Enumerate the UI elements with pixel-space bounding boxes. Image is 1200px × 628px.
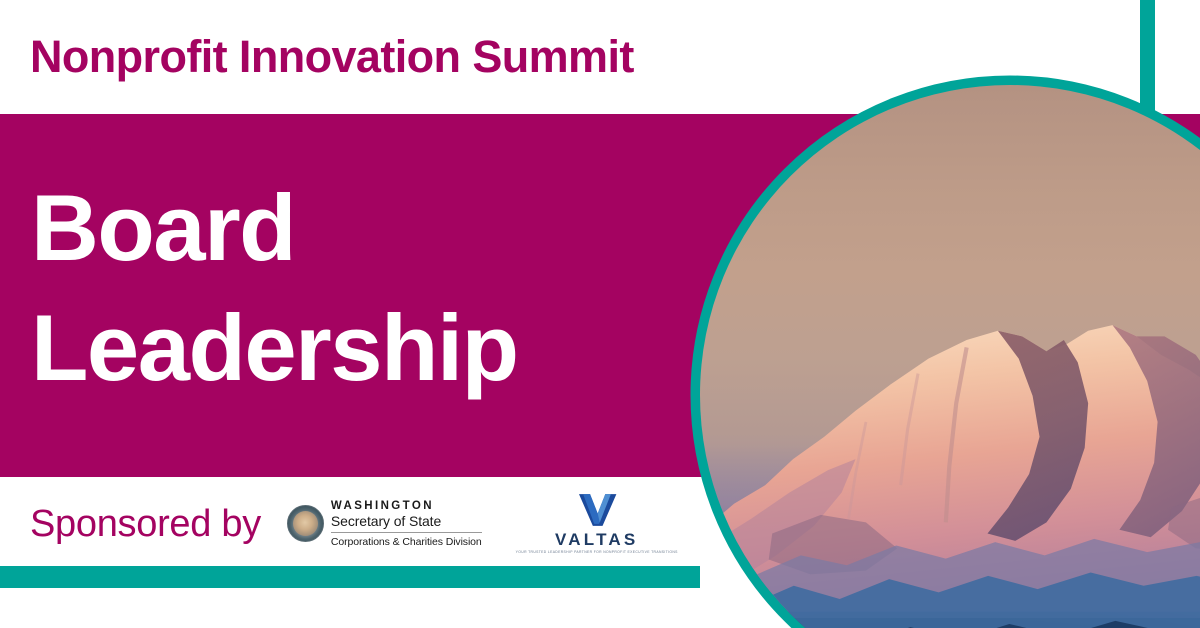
- sponsor-row: Sponsored by WASHINGTON Secretary of Sta…: [30, 488, 678, 560]
- sponsored-by-label: Sponsored by: [30, 503, 261, 546]
- promo-banner: Nonprofit Innovation Summit Board Leader…: [0, 0, 1200, 628]
- sponsor-logo-valtas[interactable]: VALTAS YOUR TRUSTED LEADERSHIP PARTNER F…: [516, 492, 678, 556]
- wa-logo-text: WASHINGTON Secretary of State Corporatio…: [331, 500, 482, 548]
- state-seal-icon: [287, 505, 324, 542]
- valtas-tagline: YOUR TRUSTED LEADERSHIP PARTNER FOR NONP…: [516, 550, 678, 556]
- valtas-wordmark: VALTAS: [555, 531, 638, 548]
- photo-gradient: [700, 85, 1200, 628]
- page-title: Board Leadership: [31, 168, 631, 409]
- near-forest-ridge-icon: [700, 593, 1200, 628]
- wa-logo-line-3: Corporations & Charities Division: [331, 533, 482, 548]
- wa-logo-line-2: Secretary of State: [331, 513, 482, 533]
- event-title: Nonprofit Innovation Summit: [30, 34, 634, 79]
- mount-rainier-photo: [700, 85, 1200, 628]
- headline-line-2: Leadership: [31, 288, 631, 408]
- valtas-checkmark-icon: [576, 492, 618, 528]
- headline-line-1: Board: [31, 168, 631, 288]
- wa-logo-line-1: WASHINGTON: [331, 500, 482, 514]
- sponsor-logo-washington-secretary-of-state[interactable]: WASHINGTON Secretary of State Corporatio…: [287, 500, 482, 548]
- teal-horizontal-bar-icon: [0, 566, 700, 588]
